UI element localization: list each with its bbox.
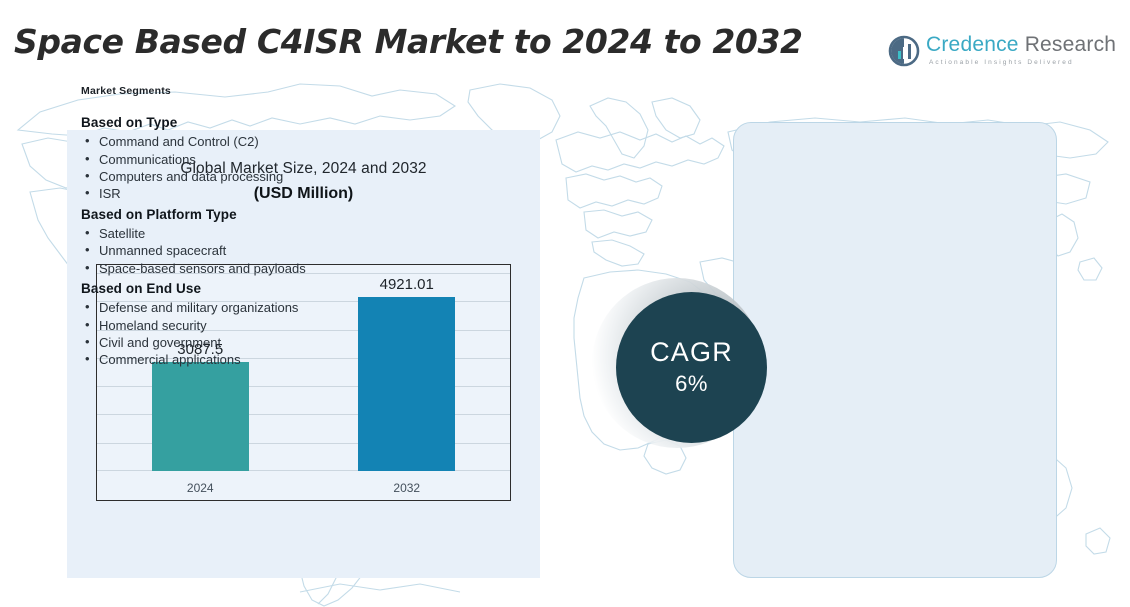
segment-item-label: Homeland security: [99, 318, 207, 333]
bullet-icon: •: [85, 299, 90, 315]
segment-item-label: Computers and data processing: [99, 169, 283, 184]
bar-chart-circle-icon: [888, 35, 920, 67]
bar-2024: [152, 362, 249, 471]
segment-item-label: Satellite: [99, 226, 145, 241]
category-label-2032: 2032: [347, 481, 467, 495]
segment-list-item: •Space-based sensors and payloads: [81, 261, 331, 277]
segment-list-item: •Homeland security: [81, 318, 331, 334]
category-label-2024: 2024: [140, 481, 260, 495]
logo-tagline: Actionable Insights Delivered: [929, 59, 1074, 66]
bullet-icon: •: [85, 225, 90, 241]
segment-item-label: Space-based sensors and payloads: [99, 261, 306, 276]
bullet-icon: •: [85, 151, 90, 167]
segment-item-label: Defense and military organizations: [99, 300, 298, 315]
segment-group-title: Based on Platform Type: [81, 206, 331, 224]
segment-list: •Defense and military organizations•Home…: [81, 300, 331, 369]
segment-item-label: Civil and government: [99, 335, 221, 350]
cagr-label: CAGR: [650, 338, 733, 366]
segment-group-title: Based on Type: [81, 114, 331, 132]
brand-logo[interactable]: Credence Research Actionable Insights De…: [888, 33, 1078, 77]
segment-item-label: Command and Control (C2): [99, 134, 259, 149]
segment-item-label: Communications: [99, 152, 196, 167]
bullet-icon: •: [85, 351, 90, 367]
logo-wordmark: Credence Research: [926, 33, 1116, 57]
segment-item-label: Commercial applications: [99, 352, 241, 367]
segment-list-item: •Civil and government: [81, 335, 331, 351]
market-segments-panel: [733, 122, 1057, 578]
infographic-page: Space Based C4ISR Market to 2024 to 2032…: [0, 0, 1130, 607]
logo-word-credence: Credence: [926, 33, 1019, 56]
segment-groups: Based on Type•Command and Control (C2)•C…: [81, 114, 331, 369]
bullet-icon: •: [85, 133, 90, 149]
cagr-value: 6%: [675, 371, 708, 397]
segment-list-item: •Satellite: [81, 226, 331, 242]
market-segments-content: Market Segments Based on Type•Command an…: [81, 85, 331, 372]
cagr-circle: CAGR 6%: [616, 292, 767, 443]
cagr-badge: CAGR 6%: [592, 278, 778, 464]
segment-item-label: ISR: [99, 186, 121, 201]
bullet-icon: •: [85, 317, 90, 333]
logo-word-research: Research: [1019, 33, 1117, 56]
bullet-icon: •: [85, 260, 90, 276]
segment-group-title: Based on End Use: [81, 280, 331, 298]
bullet-icon: •: [85, 168, 90, 184]
segment-list-item: •Unmanned spacecraft: [81, 243, 331, 259]
bar-2032: [358, 297, 455, 471]
page-title: Space Based C4ISR Market to 2024 to 2032: [14, 22, 803, 61]
segment-list-item: •Communications: [81, 152, 331, 168]
bullet-icon: •: [85, 242, 90, 258]
segment-list-item: •ISR: [81, 186, 331, 202]
bar-value-label-2032: 4921.01: [337, 276, 477, 293]
segment-list-item: •Command and Control (C2): [81, 134, 331, 150]
segment-list-item: •Commercial applications: [81, 352, 331, 368]
segment-list-item: •Defense and military organizations: [81, 300, 331, 316]
segment-list: •Satellite•Unmanned spacecraft•Space-bas…: [81, 226, 331, 277]
segment-list: •Command and Control (C2)•Communications…: [81, 134, 331, 203]
bullet-icon: •: [85, 334, 90, 350]
segment-list-item: •Computers and data processing: [81, 169, 331, 185]
segment-item-label: Unmanned spacecraft: [99, 243, 226, 258]
header: Space Based C4ISR Market to 2024 to 2032…: [0, 0, 1130, 88]
bullet-icon: •: [85, 185, 90, 201]
